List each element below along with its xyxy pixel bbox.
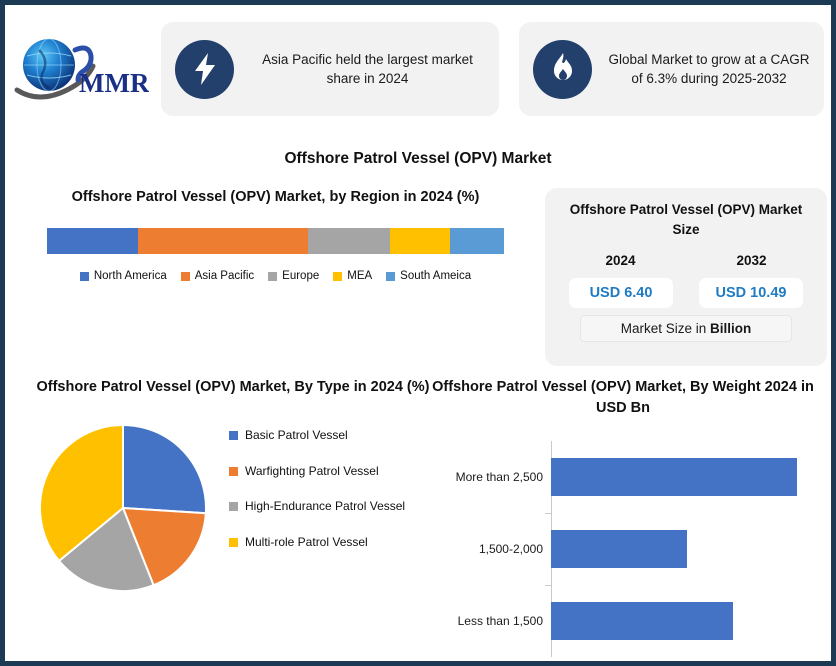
- legend-item: North America: [80, 270, 167, 282]
- legend-item: South Ameica: [386, 270, 471, 282]
- region-segment-europe: [308, 228, 390, 254]
- weight-bar-label: More than 2,500: [417, 470, 543, 484]
- legend-label: Asia Pacific: [195, 270, 254, 282]
- stat-card-market-share: Asia Pacific held the largest market sha…: [161, 22, 499, 116]
- market-size-value-forecast: USD 10.49: [699, 278, 803, 308]
- legend-label: High-Endurance Patrol Vessel: [245, 499, 405, 515]
- flame-glyph: [549, 52, 577, 86]
- legend-label: Basic Patrol Vessel: [245, 428, 348, 444]
- region-stacked-bar: [47, 228, 505, 254]
- legend-swatch-icon: [229, 431, 238, 440]
- region-segment-north-america: [47, 228, 139, 254]
- legend-swatch-icon: [268, 272, 277, 281]
- weight-bar-more-than-2-500: [551, 458, 797, 496]
- legend-item: Multi-role Patrol Vessel: [229, 535, 443, 551]
- weight-chart-plot: More than 2,5001,500-2,000Less than 1,50…: [415, 441, 831, 657]
- mmr-globe-logo: MMR: [5, 19, 153, 119]
- type-chart-title: Offshore Patrol Vessel (OPV) Market, By …: [23, 377, 443, 398]
- lightning-bolt-icon: [175, 40, 234, 99]
- region-segment-mea: [390, 228, 450, 254]
- region-chart-panel: Offshore Patrol Vessel (OPV) Market, by …: [23, 187, 528, 282]
- legend-item: Asia Pacific: [181, 270, 254, 282]
- market-size-panel: Offshore Patrol Vessel (OPV) Market Size…: [545, 188, 827, 366]
- logo-svg: MMR: [9, 32, 149, 106]
- legend-swatch-icon: [229, 502, 238, 511]
- legend-item: Basic Patrol Vessel: [229, 428, 443, 444]
- type-chart-body: Basic Patrol VesselWarfighting Patrol Ve…: [23, 416, 443, 594]
- market-size-unit-note: Market Size in Billion: [580, 315, 792, 342]
- weight-bar-row: More than 2,500: [551, 451, 831, 503]
- weight-bar-row: Less than 1,500: [551, 595, 831, 647]
- weight-bar-less-than-1-500: [551, 602, 733, 640]
- stat-card-text: Global Market to grow at a CAGR of 6.3% …: [606, 50, 812, 88]
- region-chart-legend: North AmericaAsia PacificEuropeMEASouth …: [23, 270, 528, 282]
- legend-label: North America: [94, 270, 167, 282]
- market-size-value-base: USD 6.40: [569, 278, 673, 308]
- type-pie-wrap: [23, 416, 223, 594]
- market-size-unit-prefix: Market Size in: [621, 321, 710, 336]
- type-pie-chart: [37, 422, 209, 594]
- logo-wordmark: MMR: [79, 68, 149, 98]
- stat-card-text: Asia Pacific held the largest market sha…: [248, 50, 487, 88]
- legend-item: MEA: [333, 270, 372, 282]
- legend-item: Warfighting Patrol Vessel: [229, 464, 443, 480]
- market-size-values: USD 6.40 USD 10.49: [555, 278, 817, 308]
- legend-label: Warfighting Patrol Vessel: [245, 464, 379, 480]
- infographic-root: MMR Asia Pacific held the largest market…: [0, 0, 836, 666]
- weight-bar-rows: More than 2,5001,500-2,000Less than 1,50…: [551, 441, 831, 657]
- lightning-bolt-glyph: [190, 52, 220, 86]
- stat-card-cagr: Global Market to grow at a CAGR of 6.3% …: [519, 22, 824, 116]
- weight-bar-row: 1,500-2,000: [551, 523, 831, 575]
- year-base-label: 2024: [605, 253, 635, 268]
- legend-swatch-icon: [229, 467, 238, 476]
- legend-swatch-icon: [333, 272, 342, 281]
- legend-swatch-icon: [181, 272, 190, 281]
- legend-item: Europe: [268, 270, 319, 282]
- header-row: MMR Asia Pacific held the largest market…: [5, 11, 831, 127]
- legend-label: Multi-role Patrol Vessel: [245, 535, 368, 551]
- flame-icon: [533, 40, 592, 99]
- year-forecast-label: 2032: [736, 253, 766, 268]
- weight-bar-label: 1,500-2,000: [417, 542, 543, 556]
- region-chart-title: Offshore Patrol Vessel (OPV) Market, by …: [23, 187, 528, 208]
- legend-item: High-Endurance Patrol Vessel: [229, 499, 443, 515]
- weight-bar-1-500-2-000: [551, 530, 687, 568]
- region-segment-asia-pacific: [138, 228, 307, 254]
- weight-bar-label: Less than 1,500: [417, 614, 543, 628]
- market-size-title: Offshore Patrol Vessel (OPV) Market Size: [555, 200, 817, 239]
- page-title: Offshore Patrol Vessel (OPV) Market: [5, 150, 831, 168]
- weight-chart-panel: Offshore Patrol Vessel (OPV) Market, By …: [415, 377, 831, 657]
- market-size-years: 2024 2032: [555, 253, 817, 268]
- legend-swatch-icon: [386, 272, 395, 281]
- market-size-unit-value: Billion: [710, 321, 751, 336]
- region-segment-south-ameica: [450, 228, 505, 254]
- legend-label: MEA: [347, 270, 372, 282]
- type-chart-panel: Offshore Patrol Vessel (OPV) Market, By …: [23, 377, 443, 594]
- legend-label: Europe: [282, 270, 319, 282]
- legend-swatch-icon: [80, 272, 89, 281]
- legend-label: South Ameica: [400, 270, 471, 282]
- pie-slice-basic-patrol-vessel: [123, 425, 206, 513]
- weight-chart-title: Offshore Patrol Vessel (OPV) Market, By …: [415, 377, 831, 419]
- legend-swatch-icon: [229, 538, 238, 547]
- type-chart-legend: Basic Patrol VesselWarfighting Patrol Ve…: [229, 416, 443, 550]
